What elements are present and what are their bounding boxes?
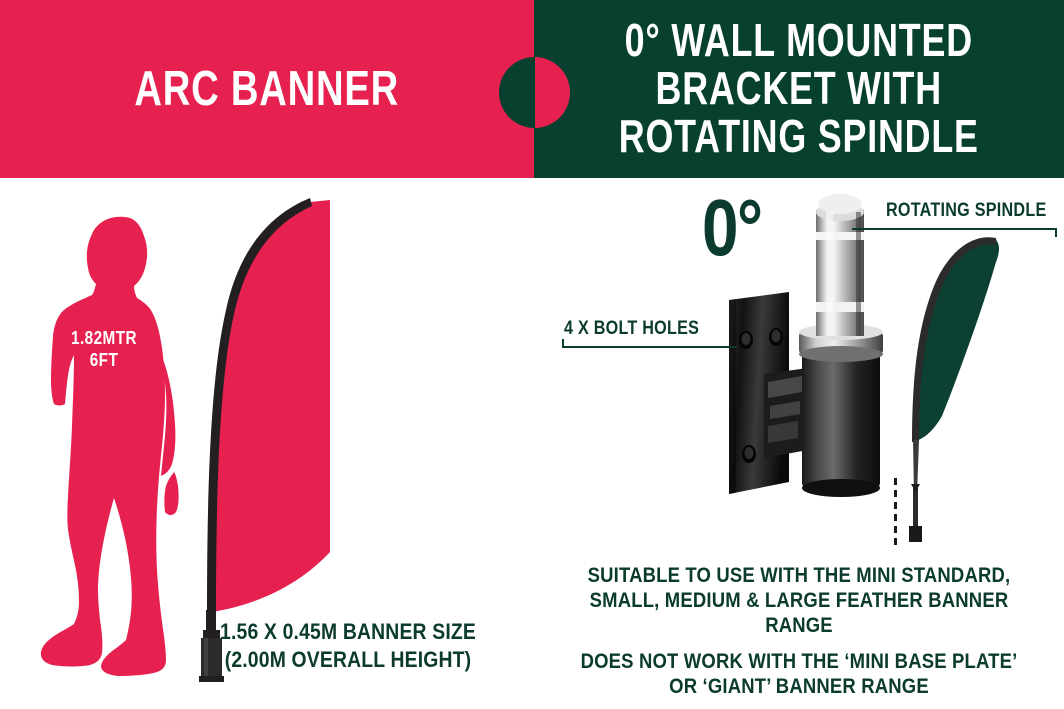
- header-right-title: 0° WALL MOUNTED BRACKET WITH ROTATING SP…: [619, 17, 979, 160]
- callout-rotating-spindle-rule: [852, 228, 1057, 230]
- right-panel: 0°: [534, 178, 1064, 709]
- header-right-title-line-1: 0° WALL MOUNTED: [619, 17, 979, 65]
- right-caption-line-1: SUITABLE TO USE WITH THE MINI STANDARD,: [579, 563, 1019, 588]
- left-caption: 1.56 X 0.45M BANNER SIZE (2.00M OVERALL …: [216, 618, 480, 673]
- right-caption-line-2: SMALL, MEDIUM & LARGE FEATHER BANNER RAN…: [579, 588, 1019, 638]
- badge-left-half: [499, 57, 535, 128]
- right-caption-line-3: DOES NOT WORK WITH THE ‘MINI BASE PLATE’: [579, 649, 1019, 674]
- header-bar: ARC BANNER 0° WALL MOUNTED BRACKET WITH …: [0, 0, 1064, 178]
- person-silhouette-icon: [38, 214, 200, 676]
- left-panel: 1.82MTR 6FT 1.56 X 0.45M BANNER SIZE (2.…: [0, 178, 534, 709]
- right-caption: SUITABLE TO USE WITH THE MINI STANDARD, …: [549, 563, 1049, 699]
- header-right-title-line-3: ROTATING SPINDLE: [619, 113, 979, 161]
- left-caption-line-2: (2.00M OVERALL HEIGHT): [216, 646, 480, 674]
- left-caption-line-1: 1.56 X 0.45M BANNER SIZE: [216, 618, 480, 646]
- callout-bolt-holes-label: 4 X BOLT HOLES: [564, 318, 699, 340]
- callout-bolt-holes-rule: [562, 346, 737, 348]
- wall-bracket-photo: [706, 192, 906, 552]
- right-caption-line-4: OR ‘GIANT’ BANNER RANGE: [579, 674, 1019, 699]
- header-left-panel: ARC BANNER: [0, 0, 534, 178]
- header-right-title-line-2: BRACKET WITH: [619, 65, 979, 113]
- infographic-page: ARC BANNER 0° WALL MOUNTED BRACKET WITH …: [0, 0, 1064, 709]
- arc-banner-flag-graphic: [190, 192, 330, 682]
- right-caption-block-2: DOES NOT WORK WITH THE ‘MINI BASE PLATE’…: [579, 649, 1019, 699]
- split-circle-badge-icon: [499, 57, 570, 128]
- teardrop-flag-graphic: [892, 226, 1042, 556]
- callout-bolt-holes-tick: [562, 339, 564, 348]
- callout-rotating-spindle-label: ROTATING SPINDLE: [886, 200, 1047, 222]
- badge-right-half: [535, 57, 571, 128]
- header-right-panel: 0° WALL MOUNTED BRACKET WITH ROTATING SP…: [534, 0, 1064, 178]
- right-caption-block-1: SUITABLE TO USE WITH THE MINI STANDARD, …: [579, 563, 1019, 639]
- callout-rotating-spindle-tick: [1055, 228, 1057, 237]
- header-left-title: ARC BANNER: [135, 65, 400, 114]
